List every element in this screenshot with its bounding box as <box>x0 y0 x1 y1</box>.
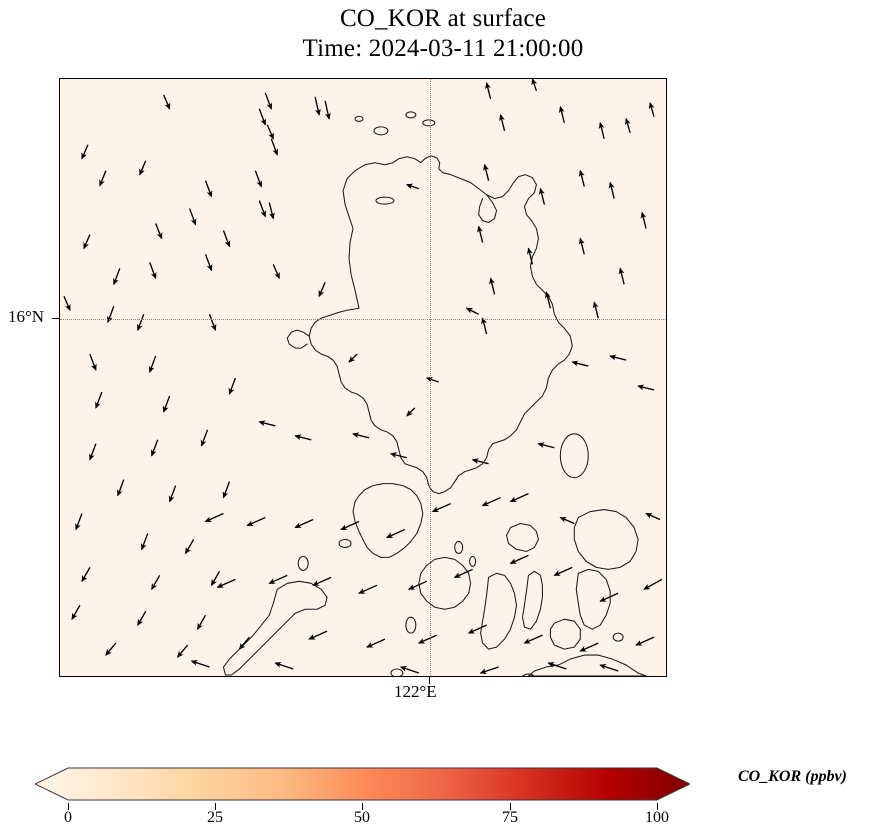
coastline-island-catanduanes <box>560 434 588 478</box>
xtick-label-122e: 122°E <box>394 682 437 702</box>
coastline-island-sm-a <box>455 541 463 553</box>
coastline-island-batan-d <box>423 120 435 126</box>
colorbar-gradient <box>35 765 690 803</box>
colorbar-label-50: 50 <box>354 809 370 827</box>
colorbar-title: CO_KOR (ppbv) <box>738 768 847 786</box>
wind-vector-layer <box>64 79 662 673</box>
coastline-panay <box>419 557 471 609</box>
coastline-mindoro <box>353 484 423 558</box>
coastline-luzon <box>309 156 572 494</box>
colorbar-label-100: 100 <box>645 809 669 827</box>
coastline-palawan <box>223 581 327 675</box>
colorbar-label-0: 0 <box>64 809 72 827</box>
map-axes[interactable] <box>59 78 667 677</box>
figure-title: CO_KOR at surface Time: 2024-03-11 21:00… <box>0 4 886 64</box>
colorbar-label-25: 25 <box>207 809 223 827</box>
colorbar-label-75: 75 <box>502 809 518 827</box>
coastline-masbate <box>507 524 539 552</box>
ytick-label-16n: 16°N <box>8 307 44 327</box>
coastline-island-batan-e <box>355 116 363 121</box>
coastline-island-batan-a <box>376 197 394 204</box>
coastline-island-sm-c <box>406 617 416 633</box>
map-drawing-surface <box>60 79 666 676</box>
coastline-luzon-inlet-west <box>287 330 309 348</box>
ytick-mark-16n <box>52 318 59 319</box>
coastline-island-sm-e <box>298 556 308 570</box>
coastline-island-batan-b <box>374 127 388 135</box>
coastline-island-sm-g <box>391 669 403 676</box>
coastline-island-sm-b <box>470 556 476 566</box>
coastline-negros <box>481 573 517 649</box>
coastline-island-sm-h <box>613 633 623 641</box>
coastline-mindanao <box>528 655 646 676</box>
figure-canvas: CO_KOR at surface Time: 2024-03-11 21:00… <box>0 0 886 836</box>
coastline-layer <box>223 112 646 676</box>
title-line-variable: CO_KOR at surface <box>0 4 886 34</box>
coastline-island-sm-d <box>339 539 351 547</box>
coastline-cebu <box>522 571 542 629</box>
colorbar[interactable]: 0 25 50 75 100 <box>35 765 690 803</box>
title-line-time: Time: 2024-03-11 21:00:00 <box>0 34 886 64</box>
coastline-samar <box>574 510 638 570</box>
coastline-island-batan-c <box>406 112 416 118</box>
coastline-bohol <box>550 619 580 649</box>
